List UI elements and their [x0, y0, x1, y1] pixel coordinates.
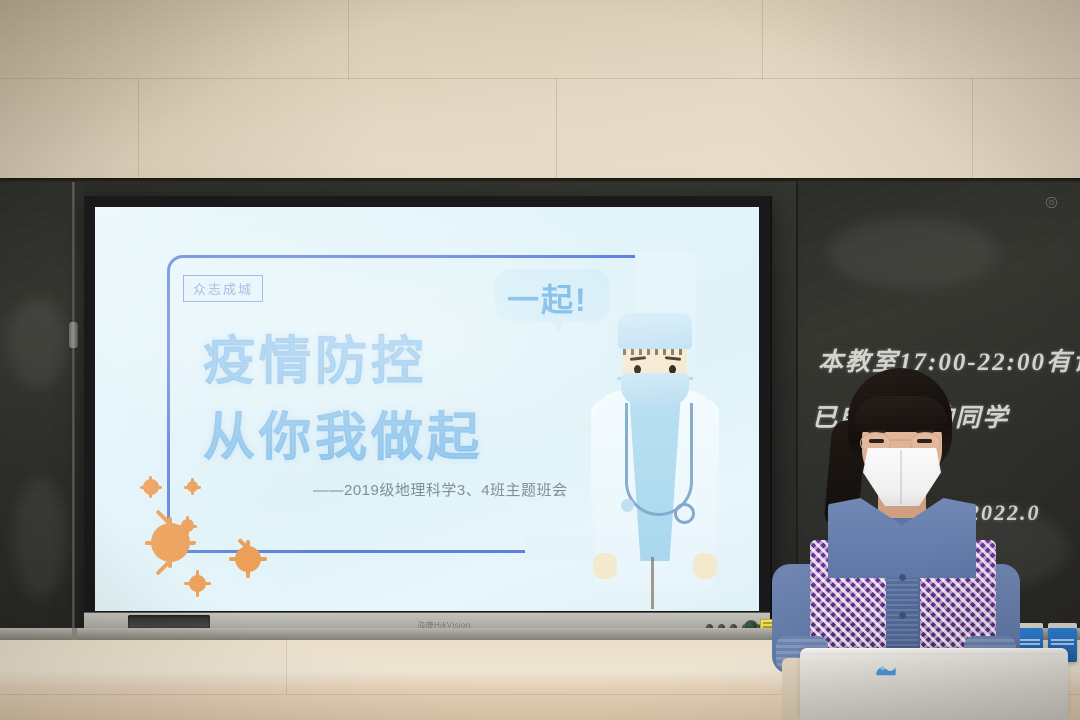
wall-seam-v3	[138, 78, 139, 188]
classroom-scene: 本教室17:00-22:00有试 已申 自习的同学 谢! 2022.0 众志成城…	[0, 0, 1080, 720]
presentation-slide[interactable]: 众志成城 疫情防控 从你我做起 ——2019级地理科学3、4班主题班会 一起!	[95, 207, 759, 611]
slide-badge: 众志成城	[183, 275, 263, 302]
student-presenter	[770, 368, 1020, 668]
podium-lip	[800, 648, 1068, 655]
lower-wall-seam-1	[286, 640, 287, 694]
wall-seam-v4	[556, 78, 557, 188]
wall-seam-h1	[0, 78, 1080, 79]
glasses-bridge	[889, 439, 910, 441]
slide-title-line1: 疫情防控	[203, 319, 427, 394]
slide-title-line2: 从你我做起	[203, 395, 483, 470]
podium-decal-icon	[875, 663, 897, 677]
n95-face-mask	[863, 448, 941, 506]
surgical-cap-icon	[618, 313, 692, 349]
podium[interactable]	[800, 648, 1068, 720]
slide-subtitle: ——2019级地理科学3、4班主题班会	[313, 479, 568, 500]
stethoscope-icon	[625, 403, 693, 516]
wall-seam-v1	[348, 0, 349, 80]
display-logo-icon	[1045, 196, 1058, 209]
wall-seam-v2	[762, 0, 763, 80]
blackboard-divider-rod	[72, 182, 75, 634]
rod-clip	[69, 322, 78, 348]
face-mask-icon	[621, 373, 689, 405]
doctor-illustration	[573, 307, 735, 607]
blackboard-top-edge	[0, 178, 1080, 182]
wall-seam-v5	[972, 78, 973, 188]
wall-shading	[0, 0, 1080, 190]
